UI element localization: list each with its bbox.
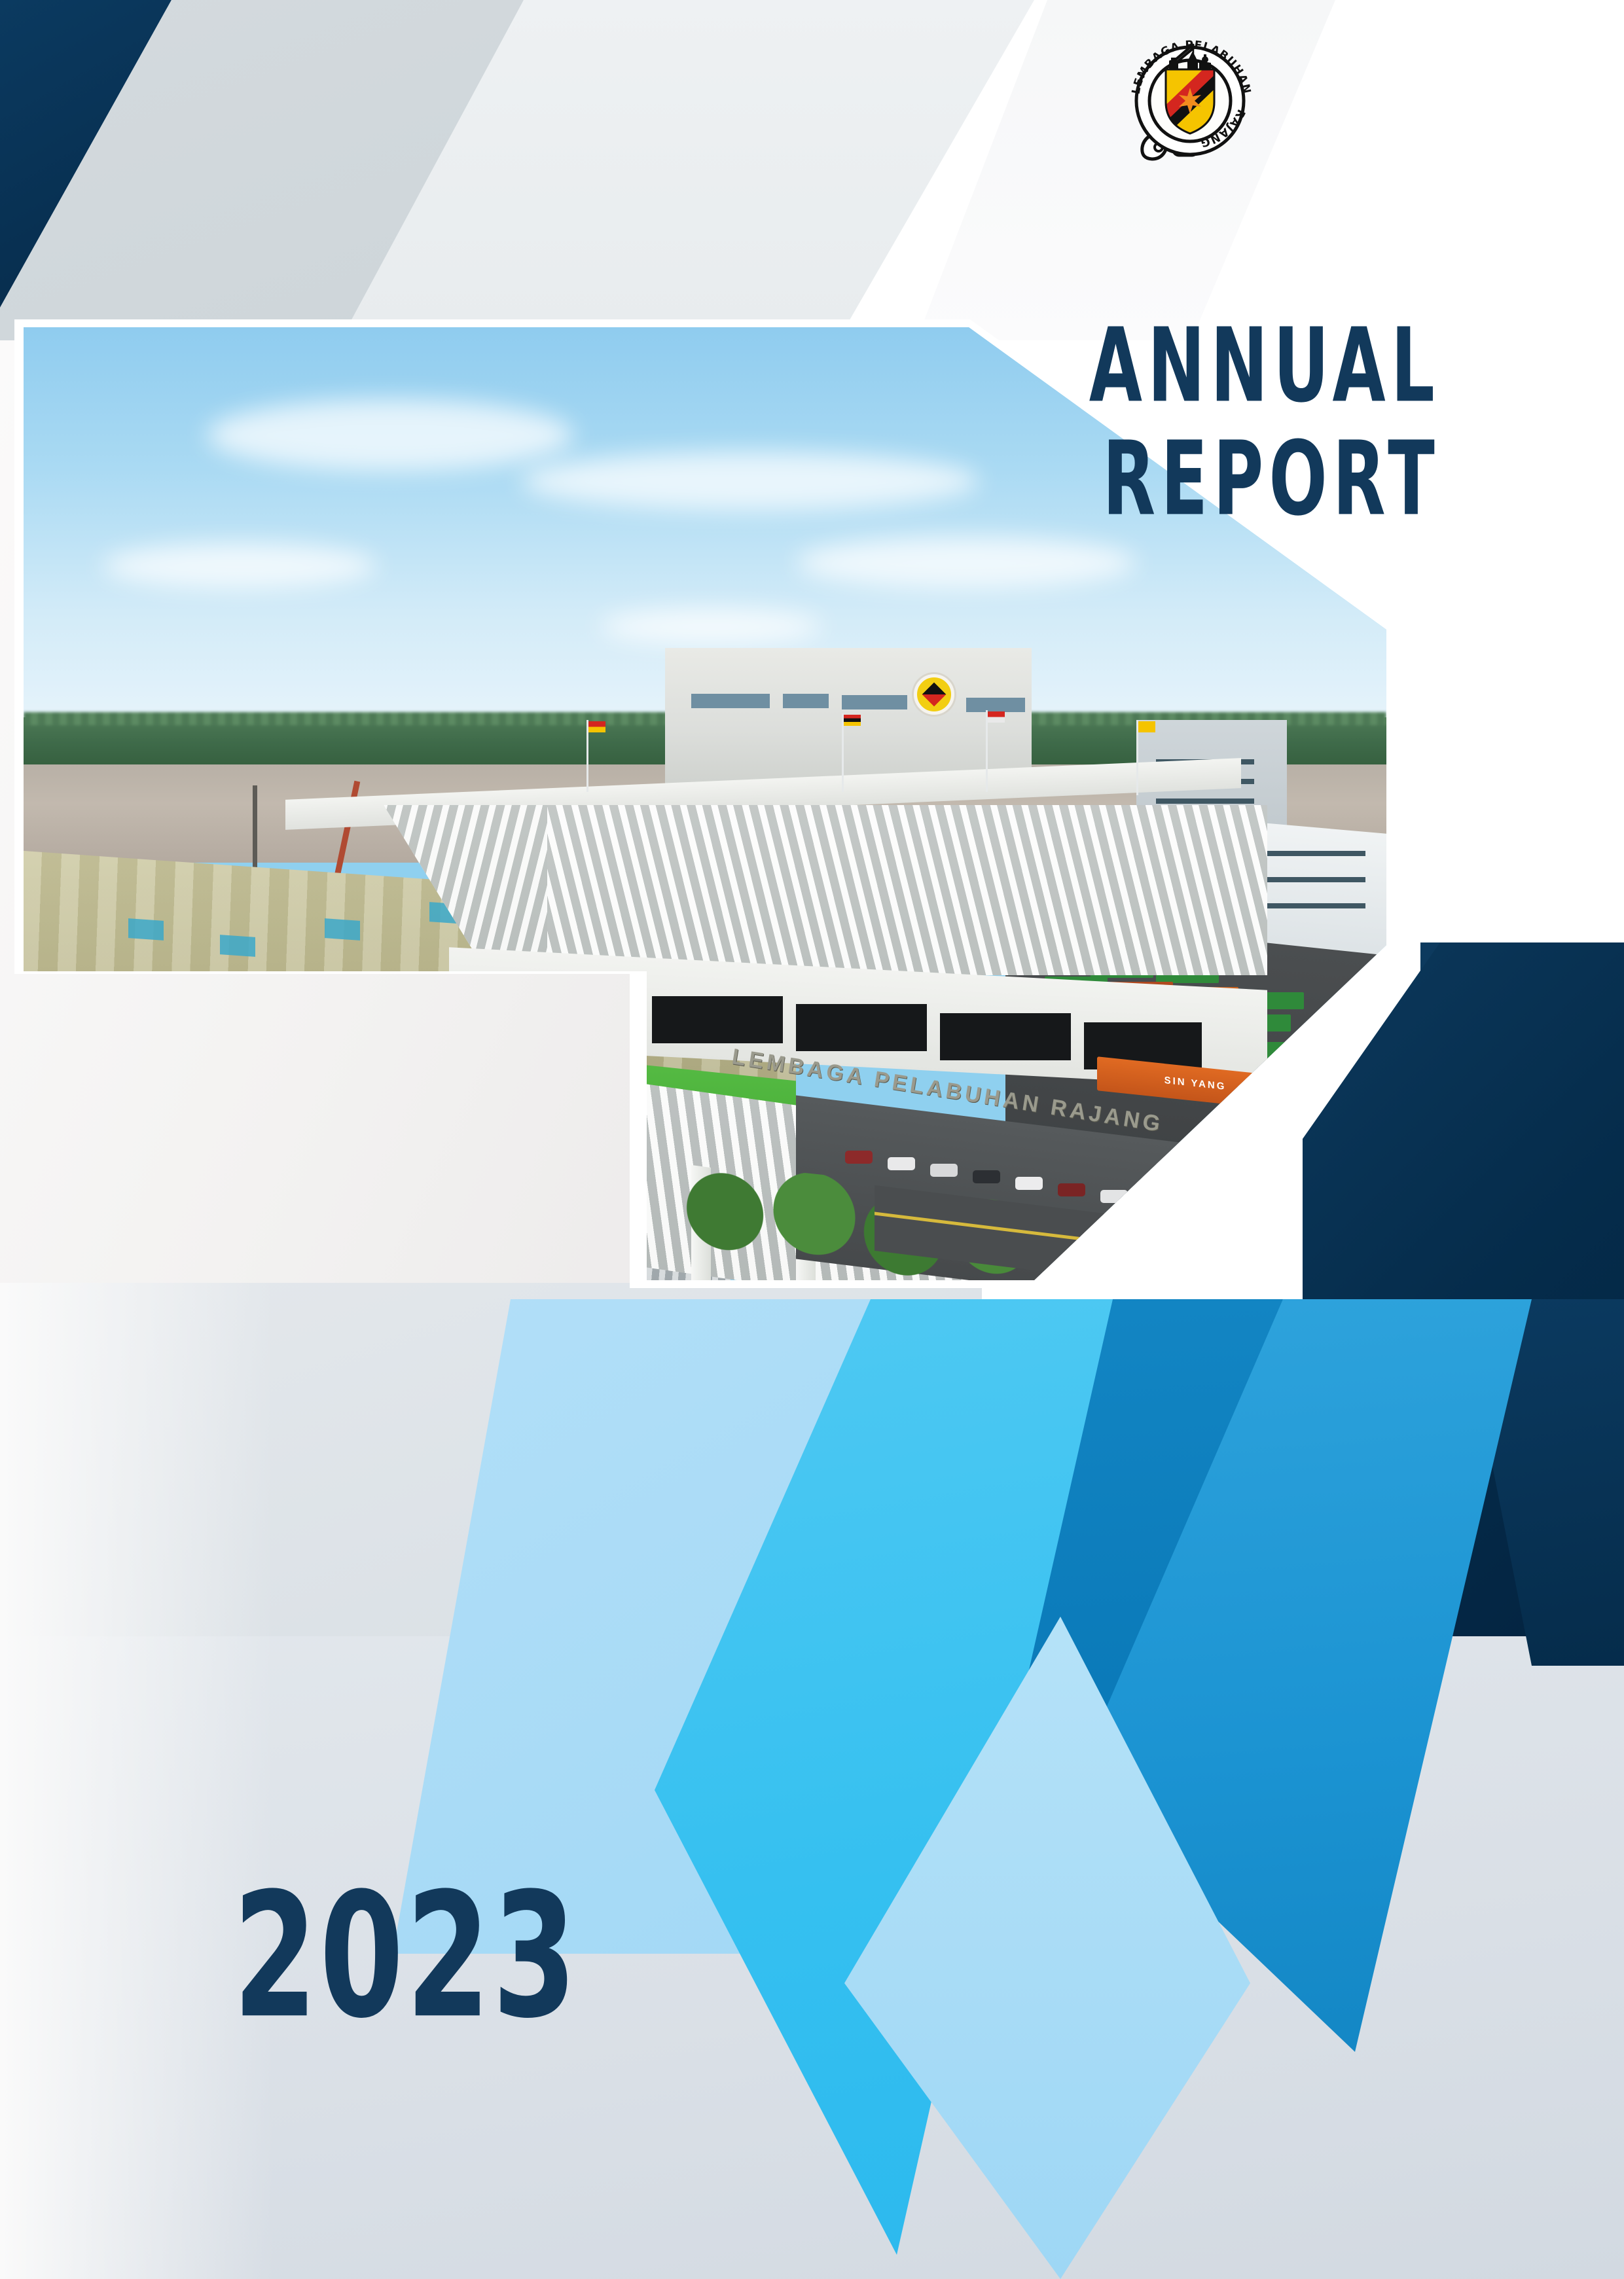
cloud (600, 609, 822, 645)
title-line-report: REPORT (1064, 427, 1440, 531)
annual-report-cover-page: LEMBAGA PELABUHAN RAJANG SIN YANG (0, 0, 1624, 2279)
window-band (691, 694, 770, 708)
window-band (842, 695, 907, 709)
cloud (102, 543, 377, 589)
glazing-bay (940, 1013, 1071, 1060)
roof-panel (128, 918, 164, 941)
title-line-annual: ANNUAL (1064, 315, 1440, 419)
report-year: 2023 (233, 1871, 579, 2043)
cloud (207, 399, 573, 471)
window-band (1156, 799, 1254, 804)
flag (588, 721, 605, 732)
glazing-bay (796, 1004, 927, 1051)
left-fade-strip (0, 1283, 275, 2279)
car (1143, 1196, 1170, 1210)
flag (1138, 721, 1155, 732)
page-title: ANNUAL REPORT (982, 324, 1440, 522)
flag (844, 715, 861, 726)
car (930, 1164, 958, 1177)
window-band (966, 698, 1025, 712)
car (845, 1151, 873, 1164)
cloud (521, 452, 979, 511)
car (1058, 1183, 1085, 1196)
car (888, 1157, 915, 1170)
car (1015, 1177, 1043, 1190)
cloud (796, 537, 1136, 589)
roof-panel (220, 935, 255, 957)
window-band (783, 694, 829, 708)
flag (988, 711, 1005, 723)
glazing-bay (652, 996, 783, 1043)
lembaga-pelabuhan-rajang-logo: LEMBAGA PELABUHAN RAJANG (1125, 33, 1255, 164)
roof-panel (325, 918, 360, 941)
building-crest-icon (914, 674, 954, 715)
car (973, 1170, 1000, 1183)
